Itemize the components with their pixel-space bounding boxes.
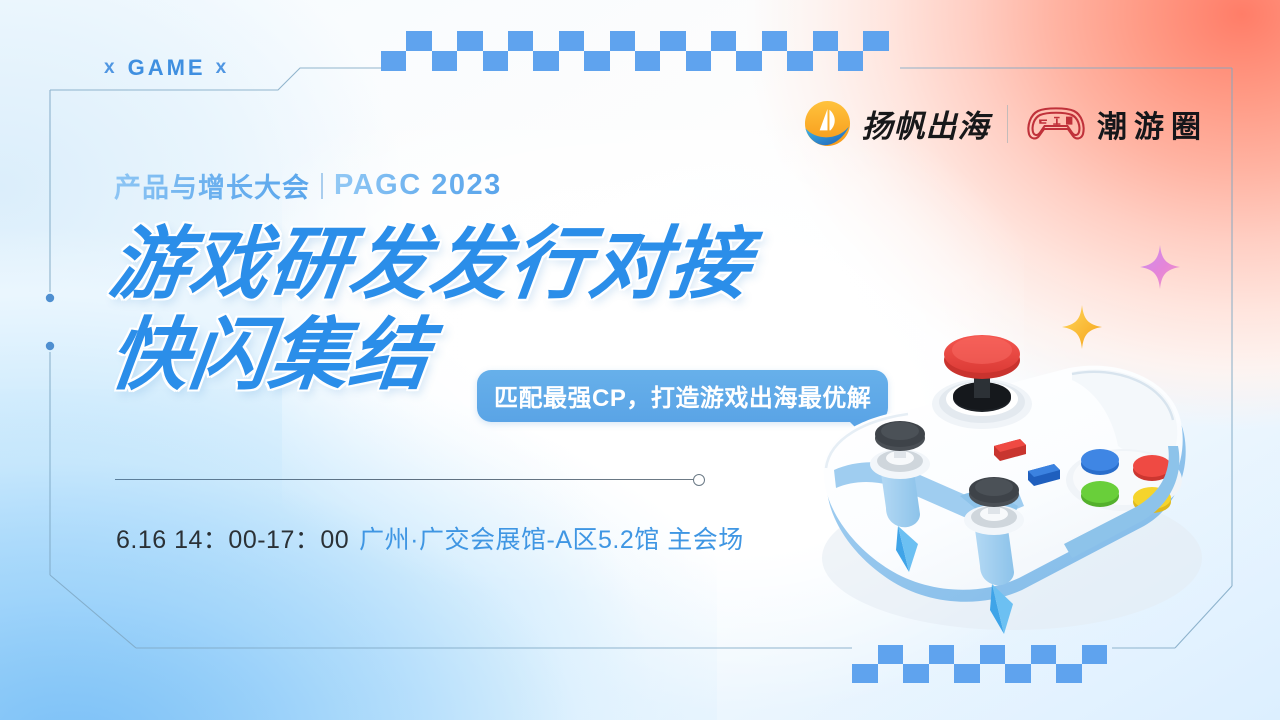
game-tag: x GAME x xyxy=(104,55,229,81)
subtitle-en: PAGC 2023 xyxy=(334,169,502,202)
event-datetime: 6.16 14：00-17：00 xyxy=(116,520,349,556)
logo-divider xyxy=(1007,105,1009,143)
sail-sun-logo-icon xyxy=(804,100,851,147)
section-divider xyxy=(115,474,705,486)
headline-line-1: 游戏研发发行对接 xyxy=(105,226,754,303)
secondary-logo: 潮游圈 xyxy=(1025,102,1208,146)
logo-group: 扬帆出海 潮游圈 xyxy=(804,100,1209,147)
divider-line xyxy=(115,479,693,480)
game-tag-left-mark: x xyxy=(104,57,118,79)
promo-banner: x GAME x xyxy=(0,0,1280,720)
subtitle-cn: 产品与增长大会 xyxy=(114,166,310,205)
primary-logo: 扬帆出海 xyxy=(804,100,990,147)
headline-block: 游戏研发发行对接 快闪集结 xyxy=(110,226,750,393)
event-venue: 广州·广交会展馆-A区5.2馆 主会场 xyxy=(359,520,744,556)
conference-subtitle: 产品与增长大会 PAGC 2023 xyxy=(114,166,502,205)
checker-strip-bottom xyxy=(852,645,1107,683)
sparkle-icon-purple xyxy=(1140,245,1180,289)
subtitle-separator xyxy=(321,173,323,199)
secondary-logo-text: 潮游圈 xyxy=(1097,102,1208,146)
game-tag-right-mark: x xyxy=(216,57,230,79)
event-details: 6.16 14：00-17：00 广州·广交会展馆-A区5.2馆 主会场 xyxy=(116,520,744,556)
gamepad-illustration xyxy=(772,318,1242,648)
primary-logo-text: 扬帆出海 xyxy=(862,101,990,146)
divider-circle-icon xyxy=(693,474,705,486)
gamepad-logo-icon xyxy=(1025,104,1087,144)
game-tag-label: GAME xyxy=(128,55,206,81)
headline-line-2: 快闪集结 xyxy=(105,317,434,394)
checker-strip-top xyxy=(381,31,889,71)
